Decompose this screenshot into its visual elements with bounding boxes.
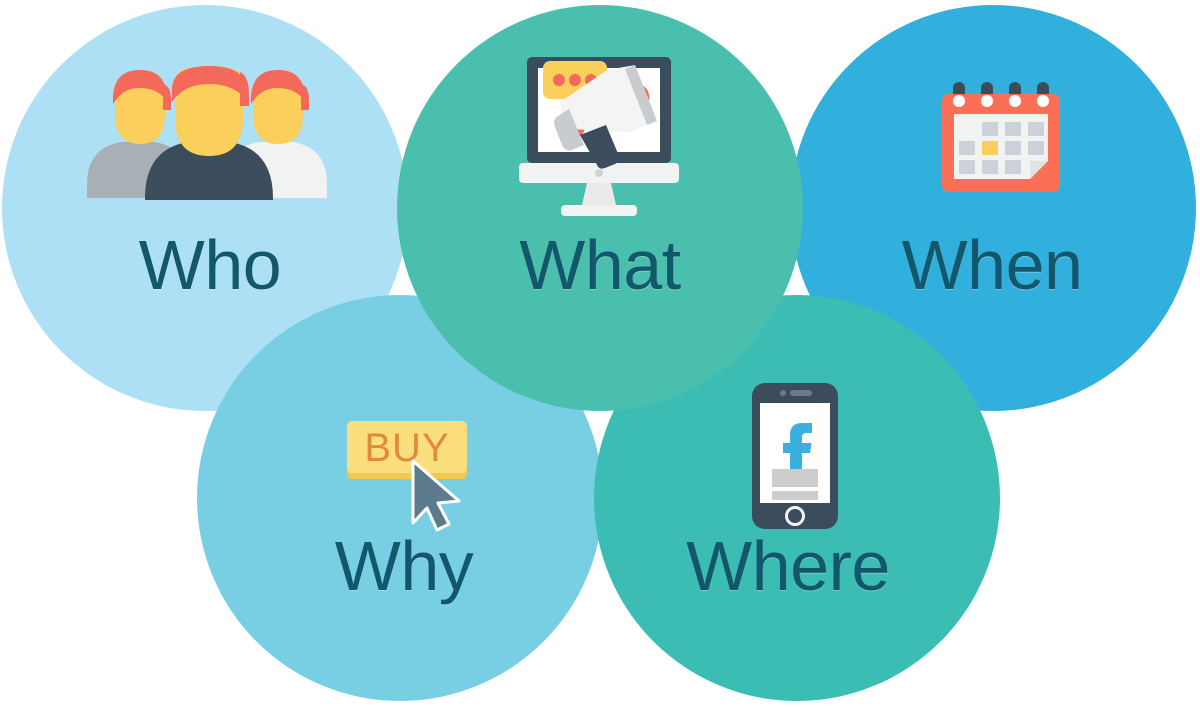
people-group-icon xyxy=(87,66,327,200)
venn-circles: BUY xyxy=(0,0,1200,707)
calendar-icon xyxy=(942,82,1060,192)
label-why: Why xyxy=(335,531,474,601)
venn-diagram-graphic: BUY xyxy=(0,0,1200,707)
label-when: When xyxy=(902,230,1083,300)
label-who: Who xyxy=(139,230,281,300)
smartphone-facebook-icon xyxy=(752,383,838,529)
label-what: What xyxy=(519,230,680,300)
label-where: Where xyxy=(686,531,890,601)
